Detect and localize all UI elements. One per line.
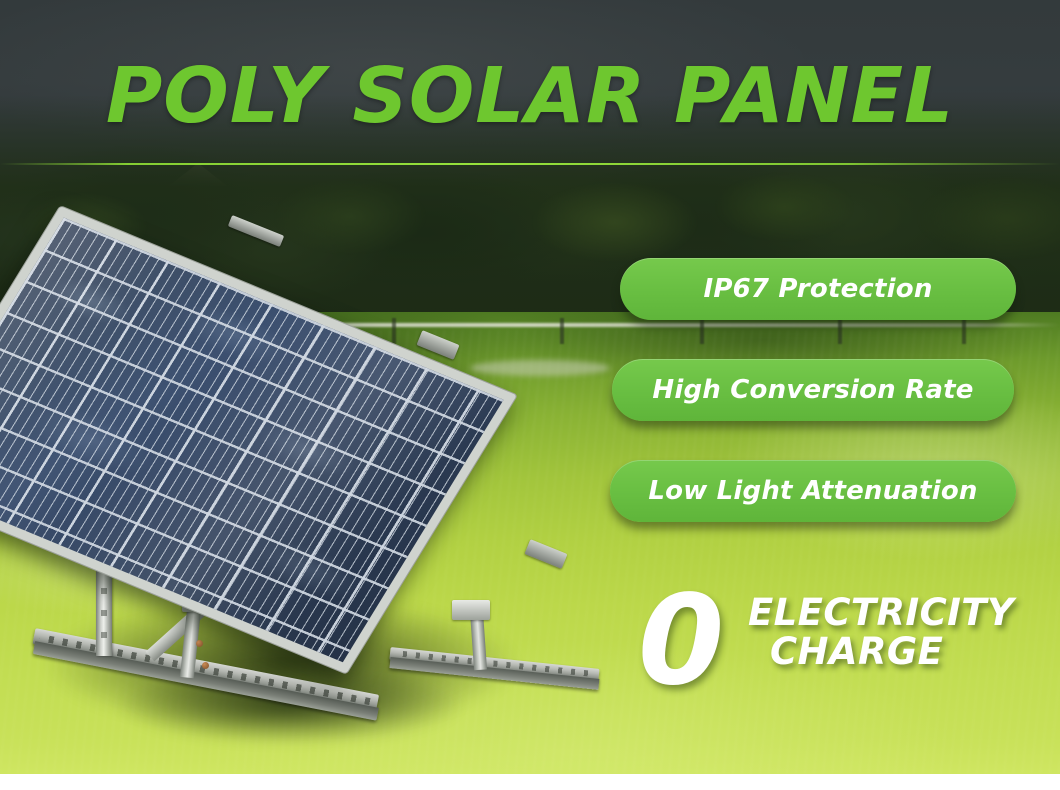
feature-pill-list: IP67 Protection High Conversion Rate Low… [596, 258, 1026, 522]
panel-glass [0, 218, 504, 663]
bolt [196, 640, 203, 647]
footer-strip [0, 774, 1060, 790]
bolt [202, 662, 209, 669]
panel-frame [0, 205, 518, 675]
charge-label-line2: CHARGE [748, 632, 1028, 671]
charge-label-line1: ELECTRICITY [748, 593, 1028, 632]
feature-pill-conversion-rate[interactable]: High Conversion Rate [612, 359, 1014, 421]
solar-panel [60, 205, 580, 635]
charge-label: ELECTRICITY CHARGE [748, 593, 1028, 671]
zero-number: 0 [638, 579, 724, 703]
promo-banner: POLY SOLAR PANEL IP67 Protection High Co… [0, 0, 1060, 790]
feature-pill-ip67[interactable]: IP67 Protection [620, 258, 1016, 320]
zero-charge-callout: 0 ELECTRICITY CHARGE [630, 585, 1030, 695]
feature-pill-low-light[interactable]: Low Light Attenuation [610, 460, 1016, 522]
page-title: POLY SOLAR PANEL [0, 58, 1060, 135]
glass-sheen [0, 218, 504, 663]
